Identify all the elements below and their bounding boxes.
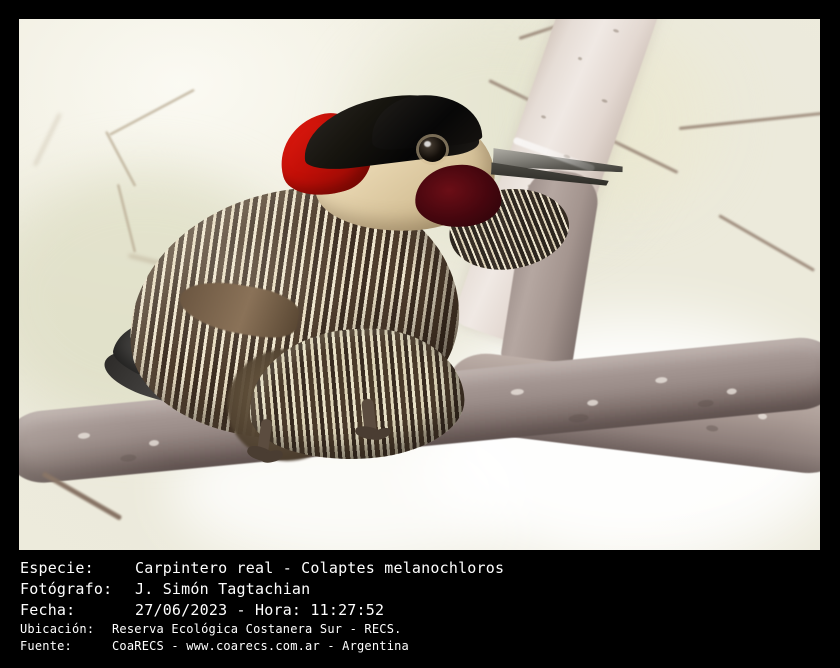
caption-rows: Especie: Carpintero real - Colaptes mela… [20, 558, 504, 655]
caption-label-ubicacion: Ubicación: [20, 621, 112, 638]
caption-row-fuente: Fuente: CoaRECS - www.coarecs.com.ar - A… [20, 638, 504, 655]
background-twig [718, 214, 815, 272]
woodpecker [119, 99, 539, 469]
caption-row-ubicacion: Ubicación: Reserva Ecológica Costanera S… [20, 621, 504, 638]
caption-value-fuente: CoaRECS - www.coarecs.com.ar - Argentina [112, 638, 409, 655]
caption-value-ubicacion: Reserva Ecológica Costanera Sur - RECS. [112, 621, 402, 638]
eye-glint [424, 141, 431, 147]
caption-label-fotografo: Fotógrafo: [20, 579, 135, 600]
eye [419, 137, 446, 162]
caption-value-fecha: 27/06/2023 - Hora: 11:27:52 [135, 600, 384, 621]
caption-panel: Especie: Carpintero real - Colaptes mela… [0, 552, 840, 668]
caption-value-especie: Carpintero real - Colaptes melanochloros [135, 558, 504, 579]
caption-label-fecha: Fecha: [20, 600, 135, 621]
bird-photograph [19, 19, 820, 550]
caption-label-fuente: Fuente: [20, 638, 112, 655]
caption-label-especie: Especie: [20, 558, 135, 579]
photo-card: Especie: Carpintero real - Colaptes mela… [0, 0, 840, 668]
caption-row-especie: Especie: Carpintero real - Colaptes mela… [20, 558, 504, 579]
background-twig [34, 113, 61, 166]
caption-value-fotografo: J. Simón Tagtachian [135, 579, 310, 600]
caption-row-fotografo: Fotógrafo: J. Simón Tagtachian [20, 579, 504, 600]
caption-row-fecha: Fecha: 27/06/2023 - Hora: 11:27:52 [20, 600, 504, 621]
